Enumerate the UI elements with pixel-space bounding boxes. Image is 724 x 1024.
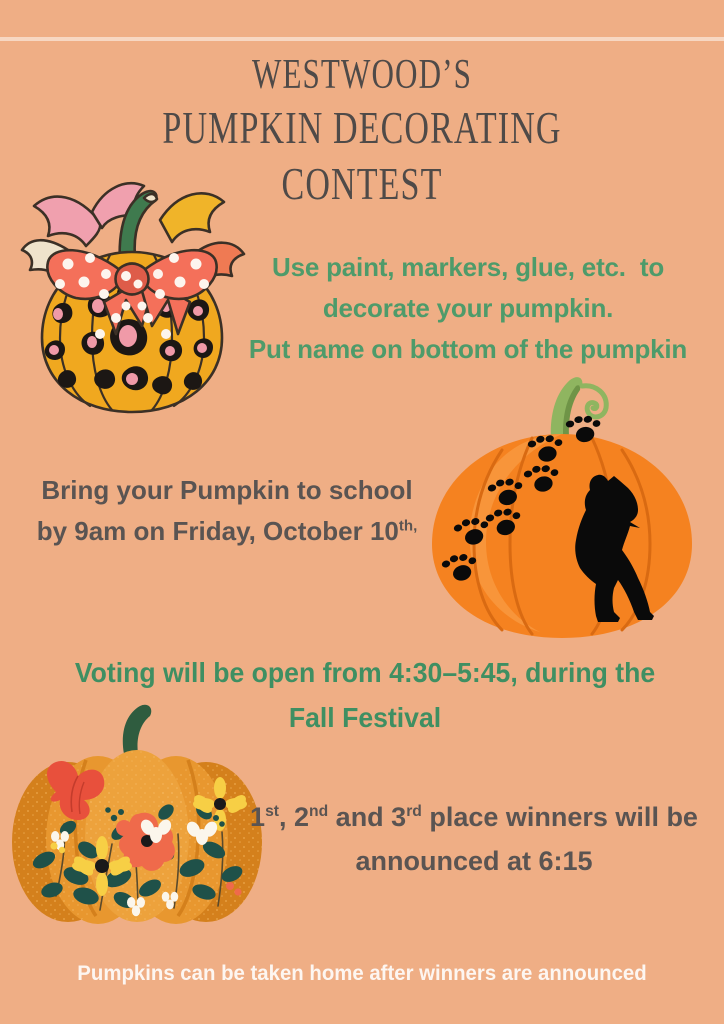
- dropoff-ordinal: th,: [399, 517, 417, 534]
- top-divider-rule: [0, 37, 724, 41]
- winners-first: 1: [250, 802, 265, 832]
- dropoff-main: Bring your Pumpkin to school by 9am on F…: [37, 475, 420, 546]
- floral-pumpkin-illustration: [8, 700, 266, 932]
- leopard-pumpkin-illustration: [8, 158, 256, 420]
- instructions-text: Use paint, markers, glue, etc. to decora…: [236, 247, 700, 370]
- poster-canvas: WESTWOOD’S PUMPKIN DECORATING CONTEST: [0, 0, 724, 1024]
- takehome-note-text: Pumpkins can be taken home after winners…: [23, 960, 702, 988]
- winners-first-ordinal: st: [265, 803, 279, 820]
- dropoff-text: Bring your Pumpkin to school by 9am on F…: [36, 470, 418, 552]
- winners-middle: , 2: [279, 802, 309, 832]
- title-line-1: WESTWOOD’S: [94, 50, 630, 100]
- wolf-pumpkin-illustration: [424, 372, 700, 644]
- winners-and: and 3: [328, 802, 406, 832]
- winners-second-ordinal: nd: [309, 803, 328, 820]
- winners-text: 1st, 2nd and 3rd place winners will be a…: [248, 795, 700, 883]
- winners-third-ordinal: rd: [406, 803, 422, 820]
